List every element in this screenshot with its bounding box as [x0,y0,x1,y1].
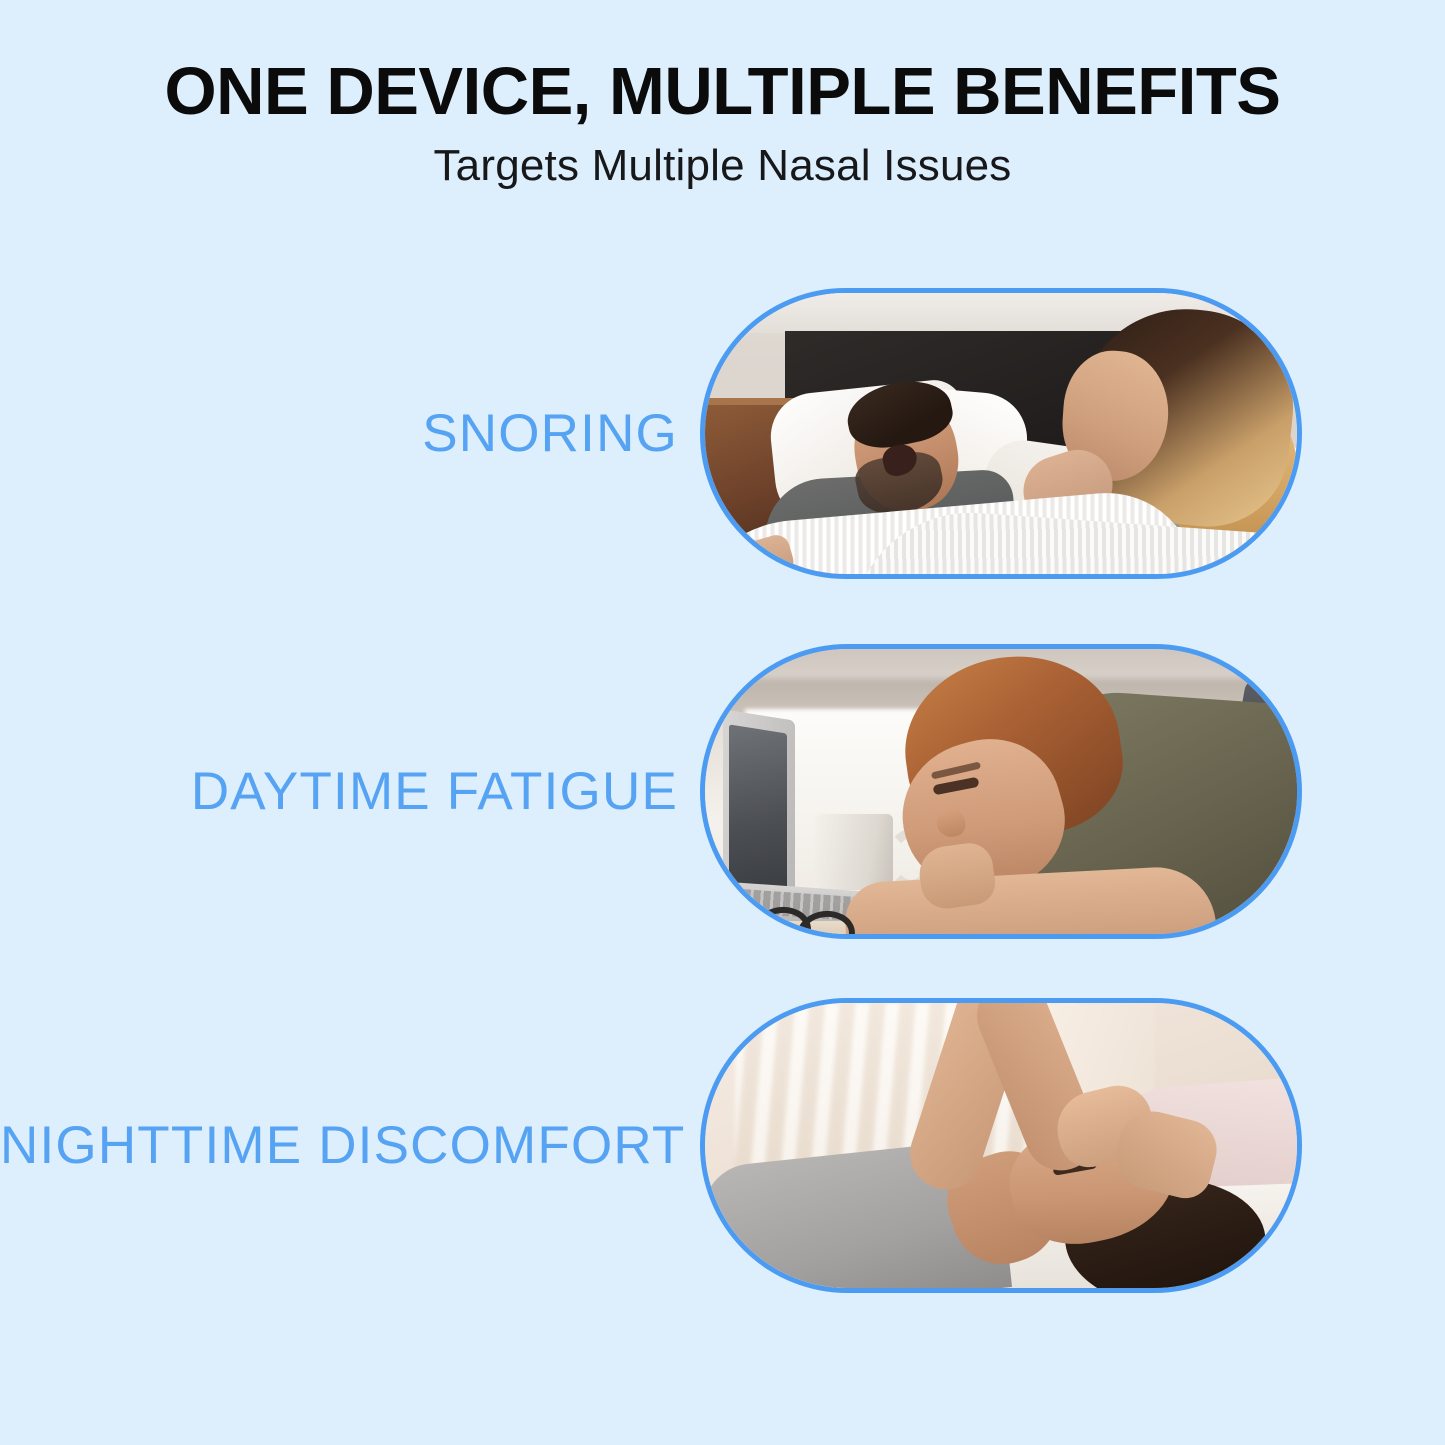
snoring-photo [705,293,1297,574]
benefit-label-snoring: SNORING [0,407,700,460]
benefit-row-nighttime-discomfort: NIGHTTIME DISCOMFORT [0,998,1445,1293]
page-title: ONE DEVICE, MULTIPLE BENEFITS [0,0,1445,126]
daytime-fatigue-photo [705,649,1297,934]
benefit-row-daytime-fatigue: DAYTIME FATIGUE [0,644,1445,939]
promo-graphic: ONE DEVICE, MULTIPLE BENEFITS Targets Mu… [0,0,1445,1445]
page-subtitle: Targets Multiple Nasal Issues [0,126,1445,189]
nighttime-discomfort-photo [705,1003,1297,1288]
benefit-row-snoring: SNORING [0,288,1445,579]
header: ONE DEVICE, MULTIPLE BENEFITS Targets Mu… [0,0,1445,190]
benefit-image-card-snoring [700,288,1302,579]
benefit-image-card-nighttime-discomfort [700,998,1302,1293]
benefit-label-daytime-fatigue: DAYTIME FATIGUE [0,765,700,818]
benefit-label-nighttime-discomfort: NIGHTTIME DISCOMFORT [0,1119,700,1172]
benefit-image-card-daytime-fatigue [700,644,1302,939]
